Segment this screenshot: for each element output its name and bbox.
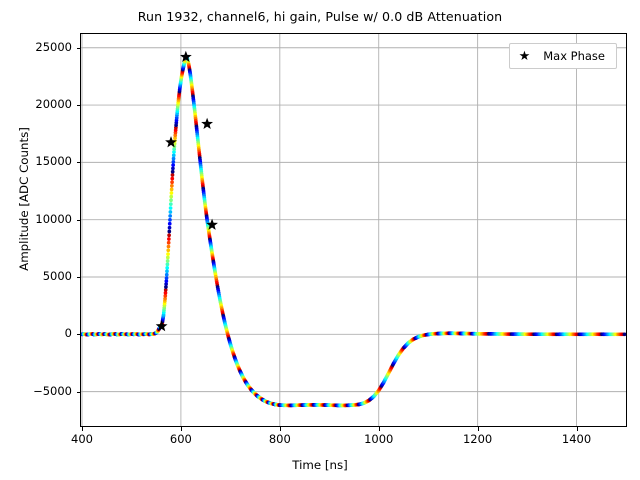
x-tick-label: 1200 bbox=[438, 432, 518, 446]
plot-svg bbox=[81, 34, 626, 426]
x-tick-label: 600 bbox=[141, 432, 221, 446]
x-tick-label: 800 bbox=[240, 432, 320, 446]
waveform-scatter-points bbox=[81, 56, 626, 408]
y-tick-label: 15000 bbox=[6, 154, 72, 168]
star-icon: ★ bbox=[519, 50, 531, 63]
legend[interactable]: ★ Max Phase bbox=[509, 43, 617, 69]
y-tick-label: 0 bbox=[6, 326, 72, 340]
legend-item-label: Max Phase bbox=[543, 49, 605, 63]
gridlines bbox=[81, 34, 626, 426]
page-title: Run 1932, channel6, hi gain, Pulse w/ 0.… bbox=[0, 9, 640, 24]
x-tick-label: 1000 bbox=[339, 432, 419, 446]
y-tick-label: 5000 bbox=[6, 269, 72, 283]
figure-canvas: Run 1932, channel6, hi gain, Pulse w/ 0.… bbox=[0, 0, 640, 480]
y-tick-label: −5000 bbox=[6, 384, 72, 398]
y-tick-label: 20000 bbox=[6, 97, 72, 111]
plot-area: ★ Max Phase bbox=[80, 33, 627, 427]
x-axis-label: Time [ns] bbox=[0, 458, 640, 472]
y-tick-label: 10000 bbox=[6, 212, 72, 226]
x-tick-label: 400 bbox=[42, 432, 122, 446]
x-tick-label: 1400 bbox=[537, 432, 617, 446]
y-tick-label: 25000 bbox=[6, 40, 72, 54]
max-phase-star-marker bbox=[201, 118, 213, 129]
